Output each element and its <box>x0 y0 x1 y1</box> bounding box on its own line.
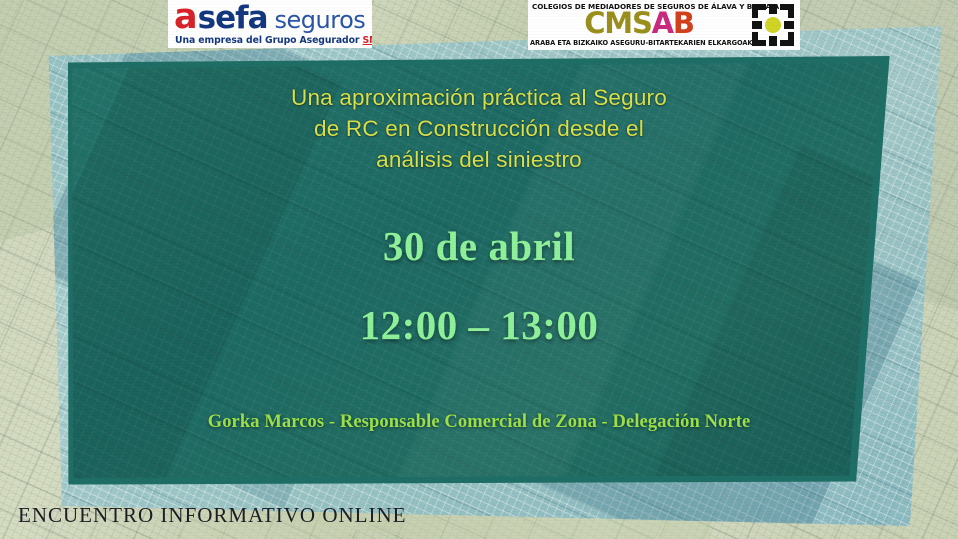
panel-content: Una aproximación práctica al Seguro de R… <box>60 56 898 488</box>
asefa-seguros-logo: a sefa seguros Una empresa del Grupo Ase… <box>168 0 372 48</box>
slide-title-line-2: de RC en Construcción desde el <box>60 113 898 144</box>
cmsab-bottom-line: ARABA ETA BIZKAIKO ASEGURU-BITARTEKARIEN… <box>530 39 748 47</box>
cmsab-letter-b: B <box>673 6 694 40</box>
cmsab-bracket-icon <box>752 4 794 46</box>
slide-title-line-1: Una aproximación práctica al Seguro <box>60 82 898 113</box>
event-time: 12:00 – 13:00 <box>60 301 898 349</box>
asefa-tagline: Una empresa del Grupo Asegurador SMA <box>175 35 372 46</box>
cmsab-letter-s: S <box>632 6 652 40</box>
cmsab-logo: COLEGIOS DE MEDIADORES DE SEGUROS DE ÁLA… <box>528 0 800 50</box>
asefa-tagline-text: Una empresa del Grupo Asegurador <box>175 35 363 46</box>
asefa-wordmark: a sefa seguros <box>174 1 365 37</box>
footer-caption: ENCUENTRO INFORMATIVO ONLINE <box>18 503 406 528</box>
cmsab-letter-c: C <box>584 6 604 40</box>
cmsab-center-dot <box>765 17 781 33</box>
asefa-wordmark-text: sefa <box>198 2 268 35</box>
asefa-mark-letter: a <box>174 1 198 34</box>
slide-title: Una aproximación práctica al Seguro de R… <box>60 82 898 175</box>
event-date: 30 de abril <box>60 222 898 270</box>
slide-title-line-3: análisis del siniestro <box>60 144 898 175</box>
cmsab-letter-m: M <box>604 6 632 40</box>
cmsab-letter-a: A <box>652 6 673 40</box>
slide-canvas: Una aproximación práctica al Seguro de R… <box>0 0 958 539</box>
asefa-tagline-sma: SMA <box>363 35 373 46</box>
cmsab-lettermark: CMSAB <box>532 9 746 38</box>
asefa-suffix-text: seguros <box>275 4 366 37</box>
speaker-line: Gorka Marcos - Responsable Comercial de … <box>60 412 898 433</box>
